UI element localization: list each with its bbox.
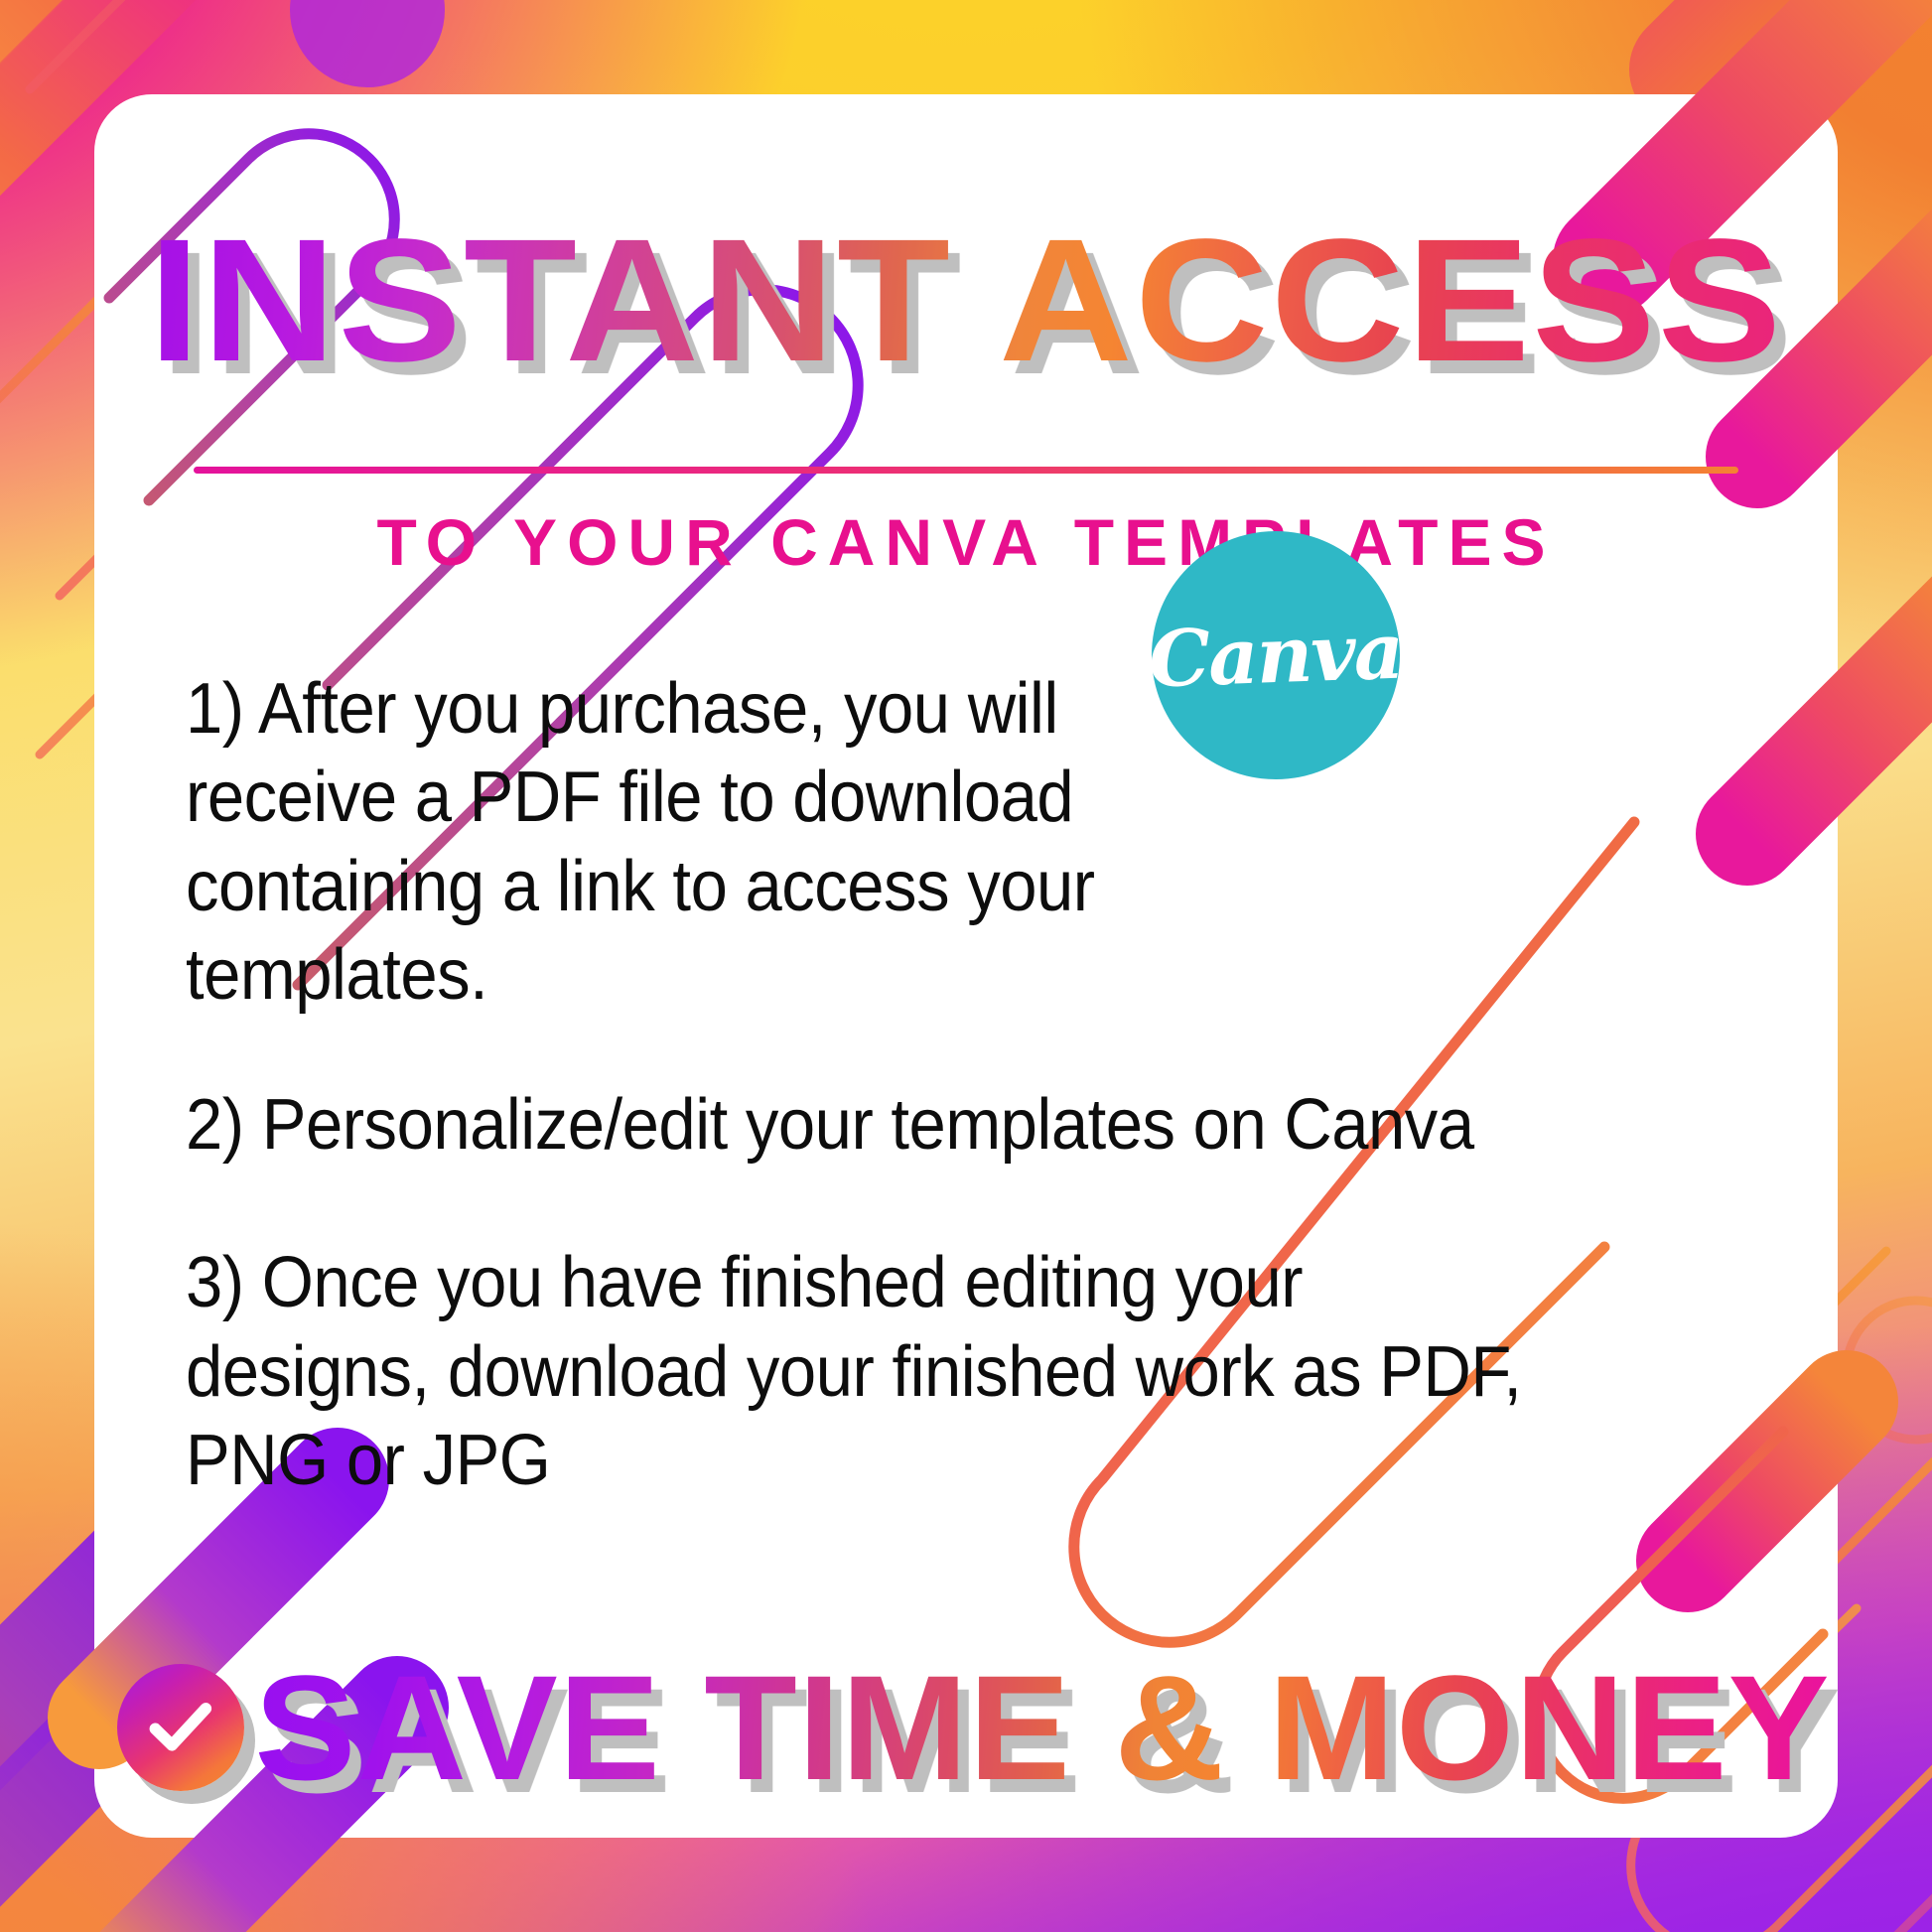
instruction-list: 1) After you purchase, you will receive … bbox=[186, 665, 1774, 1567]
deco-bar-group-topright bbox=[1688, 0, 1932, 69]
card-content: INSTANT ACCESS TO YOUR CANVA TEMPLATES C… bbox=[94, 94, 1838, 1838]
page-title: INSTANT ACCESS bbox=[42, 213, 1889, 388]
list-item: 2) Personalize/edit your templates on Ca… bbox=[186, 1081, 1663, 1170]
title-divider bbox=[194, 467, 1738, 474]
check-icon bbox=[117, 1664, 244, 1791]
poster-canvas: INSTANT ACCESS TO YOUR CANVA TEMPLATES C… bbox=[0, 0, 1932, 1932]
list-item: 1) After you purchase, you will receive … bbox=[186, 665, 1137, 1020]
banner-text: SAVE TIME & MONEY bbox=[254, 1653, 1830, 1802]
list-item: 3) Once you have finished editing your d… bbox=[186, 1239, 1552, 1505]
bottom-banner: SAVE TIME & MONEY bbox=[94, 1653, 1838, 1802]
page-subtitle: TO YOUR CANVA TEMPLATES bbox=[94, 509, 1838, 575]
